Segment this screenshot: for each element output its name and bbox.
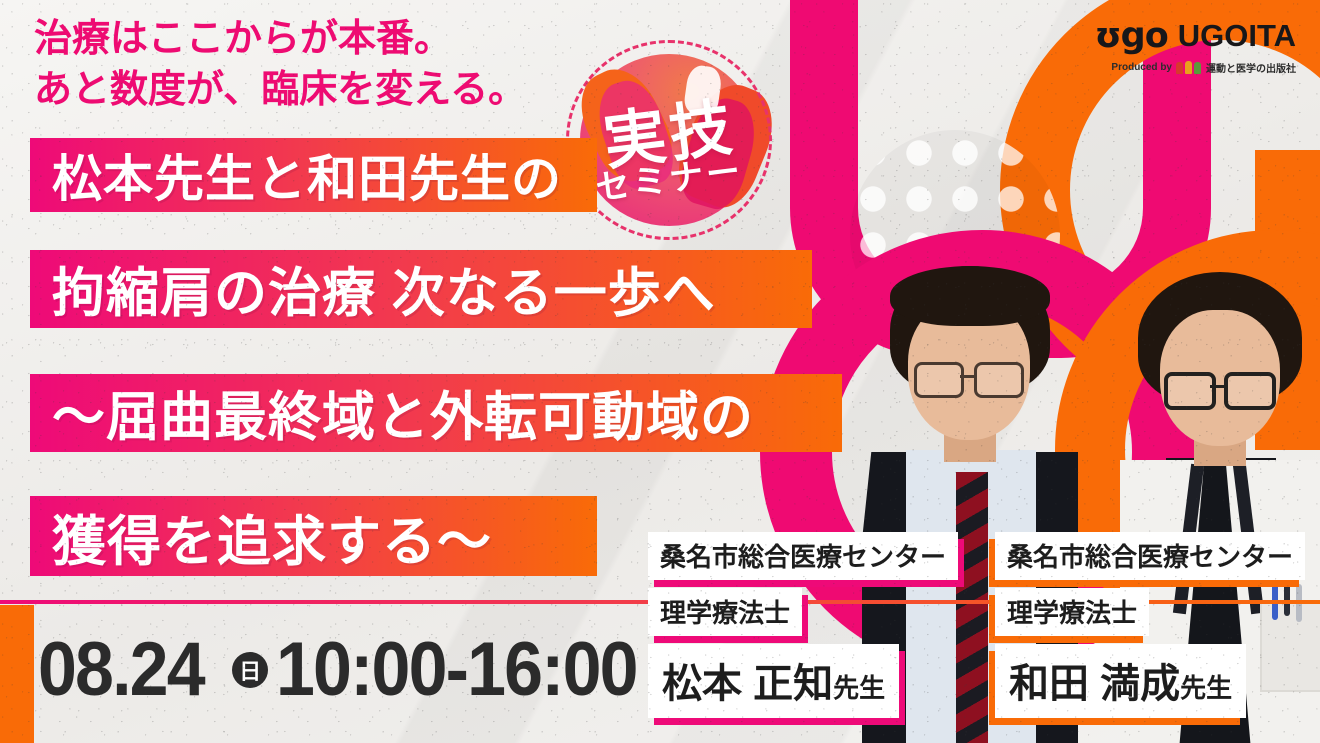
publisher-name: 運動と医学の出版社: [1206, 60, 1296, 75]
eyeglasses: [914, 362, 1024, 396]
presenter-2-honorific: 先生: [1180, 673, 1232, 703]
hair-fringe: [890, 266, 1050, 326]
publisher-icon: [1176, 61, 1202, 74]
presenter-2-name-text: 和田 満成: [1009, 662, 1180, 706]
event-time: 10:00-16:00: [276, 626, 637, 713]
seminar-banner: 治療はここからが本番。 あと数度が、臨床を変える。 実技 セミナー 松本先生と和…: [0, 0, 1320, 743]
presenter-2-organization: 桑名市総合医療センター: [995, 532, 1305, 580]
presenter-card-2: 桑名市総合医療センター 理学療法士 和田 満成先生: [995, 532, 1305, 718]
eyeglasses: [1164, 372, 1276, 406]
title-line-3: 〜屈曲最終域と外転可動域の: [30, 374, 842, 452]
ugoita-wordmark: UGOITA: [1178, 18, 1296, 54]
presenter-2-role: 理学療法士: [995, 588, 1149, 636]
decor-orange-tab-left: [0, 605, 34, 743]
logo-row: ʊgo UGOITA: [1095, 16, 1296, 56]
catch-copy: 治療はここからが本番。 あと数度が、臨床を変える。: [34, 14, 526, 115]
brand-logo: ʊgo UGOITA Produced by 運動と医学の出版社: [1095, 16, 1296, 75]
presenter-1-honorific: 先生: [833, 673, 885, 703]
title-line-2: 拘縮肩の治療 次なる一歩へ: [30, 250, 812, 328]
presenter-card-1: 桑名市総合医療センター 理学療法士 松本 正知先生: [648, 532, 958, 718]
ugo-logomark: ʊgo: [1095, 16, 1168, 56]
schedule-row: 08.24 日 10:00-16:00: [38, 626, 668, 713]
presenter-1-name: 松本 正知先生: [648, 644, 899, 718]
necktie: [956, 472, 988, 743]
produced-by-label: Produced by: [1111, 62, 1172, 73]
presenter-2-name: 和田 満成先生: [995, 644, 1246, 718]
presenter-1-role: 理学療法士: [648, 588, 802, 636]
presenter-1-name-text: 松本 正知: [662, 662, 833, 706]
day-of-week-badge: 日: [232, 652, 268, 688]
event-date: 08.24: [38, 626, 204, 713]
produced-by-line: Produced by 運動と医学の出版社: [1095, 60, 1296, 75]
title-line-4: 獲得を追求する〜: [30, 496, 597, 576]
presenter-1-organization: 桑名市総合医療センター: [648, 532, 958, 580]
title-line-1: 松本先生と和田先生の: [30, 138, 597, 212]
